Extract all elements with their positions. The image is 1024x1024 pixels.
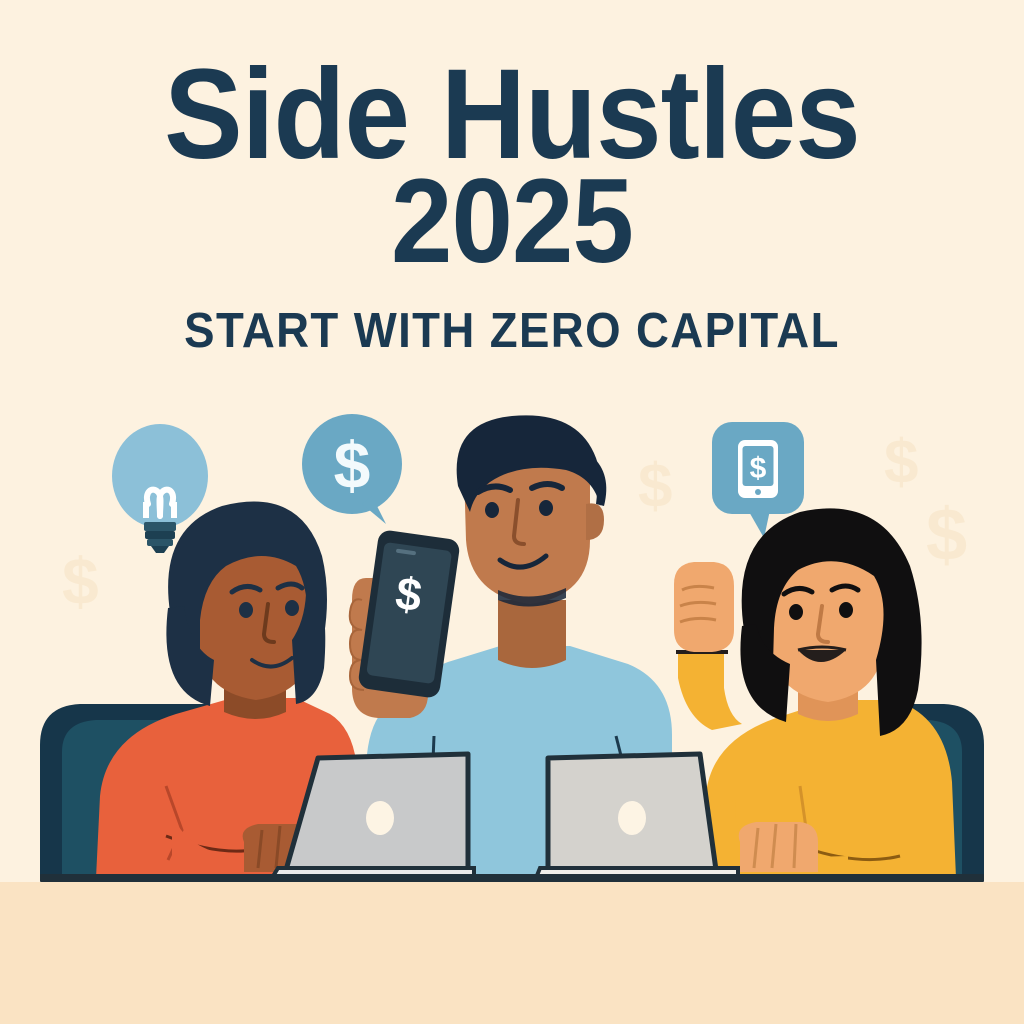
laptop-right <box>536 754 738 878</box>
page-title-line-2: 2025 <box>41 170 983 273</box>
raised-fist <box>674 562 734 652</box>
desk-edge <box>40 874 984 882</box>
person-right-woman <box>674 508 956 878</box>
poster-heading-block: Side Hustles 2025 START WITH ZERO CAPITA… <box>0 60 1024 359</box>
poster-canvas: $$$$ Side Hustles 2025 START WITH ZERO C… <box>0 0 1024 1024</box>
desk-surface <box>0 882 1024 1024</box>
hands-right-woman <box>739 822 818 872</box>
page-subtitle: START WITH ZERO CAPITAL <box>36 303 988 359</box>
